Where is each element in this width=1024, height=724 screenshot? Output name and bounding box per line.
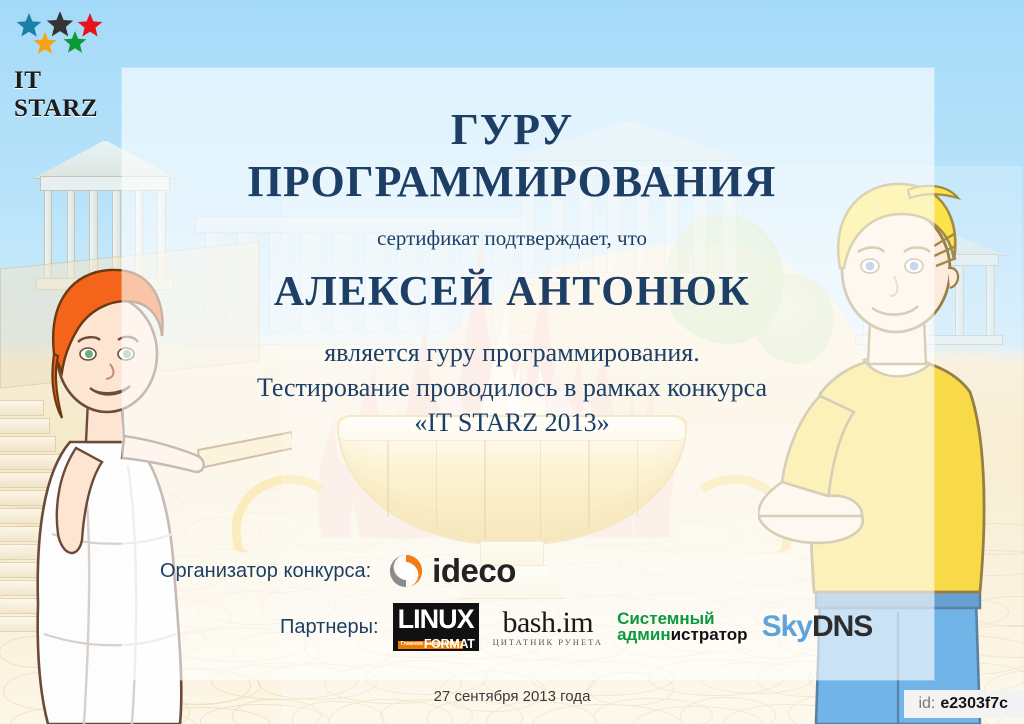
partners-row: Партнеры: LINUX Главное в мире Linux FOR… — [280, 603, 920, 651]
certificate-title-line1: ГУРУ — [0, 108, 1024, 152]
id-value: e2303f7c — [940, 695, 1008, 712]
ideco-ring-icon — [387, 552, 425, 590]
linux-format-main: LINUX — [398, 606, 474, 633]
linux-format-secondary: FORMAT — [424, 638, 475, 651]
skydns-part1: Sky — [762, 610, 812, 643]
recipient-name: АЛЕКСЕЙ АНТОНЮК — [0, 268, 1024, 316]
sysadmin-line2: администратор — [617, 627, 748, 643]
ideco-wordmark: ideco — [432, 552, 516, 590]
id-label: id: — [918, 695, 935, 712]
skydns-logo: SkyDNS — [762, 612, 873, 642]
it-starz-stars-icon — [14, 12, 106, 60]
sysadmin-line2-black: истратор — [671, 625, 748, 644]
partners-label: Партнеры: — [280, 616, 379, 639]
certificate-body-line2: Тестирование проводилось в рамках конкур… — [0, 373, 1024, 403]
it-starz-wordmark: IT STARZ — [14, 67, 114, 123]
certificate-content: ГУРУ ПРОГРАММИРОВАНИЯ сертификат подтвер… — [0, 0, 1024, 724]
it-starz-logo: IT STARZ — [14, 12, 114, 123]
sysadmin-line2-green: админ — [617, 625, 671, 644]
certificate-body-line3: «IT STARZ 2013» — [0, 408, 1024, 438]
star-blue — [17, 13, 42, 37]
certificate-title-line2: ПРОГРАММИРОВАНИЯ — [0, 160, 1024, 204]
bash-im-tagline: ЦИТАТНИК РУНЕТА — [493, 638, 603, 647]
certificate-canvas: ГУРУ ПРОГРАММИРОВАНИЯ сертификат подтвер… — [0, 0, 1024, 724]
star-red — [78, 13, 103, 37]
sistemny-administrator-logo: Системный администратор — [617, 611, 748, 644]
bash-im-logo: bash.im ЦИТАТНИК РУНЕТА — [493, 608, 603, 647]
certificate-confirm-text: сертификат подтверждает, что — [0, 226, 1024, 251]
bash-im-main: bash.im — [493, 608, 603, 638]
certificate-body-line1: является гуру программирования. — [0, 338, 1024, 368]
organizer-row: Организатор конкурса: ideco — [160, 552, 720, 590]
linux-format-logo: LINUX Главное в мире Linux FORMAT — [393, 603, 479, 651]
ideco-logo: ideco — [387, 552, 516, 590]
certificate-date: 27 сентября 2013 года — [0, 688, 1024, 705]
skydns-part2: DNS — [812, 610, 872, 643]
organizer-label: Организатор конкурса: — [160, 560, 371, 583]
star-black — [47, 12, 74, 36]
id-badge: id:e2303f7c — [904, 690, 1024, 718]
